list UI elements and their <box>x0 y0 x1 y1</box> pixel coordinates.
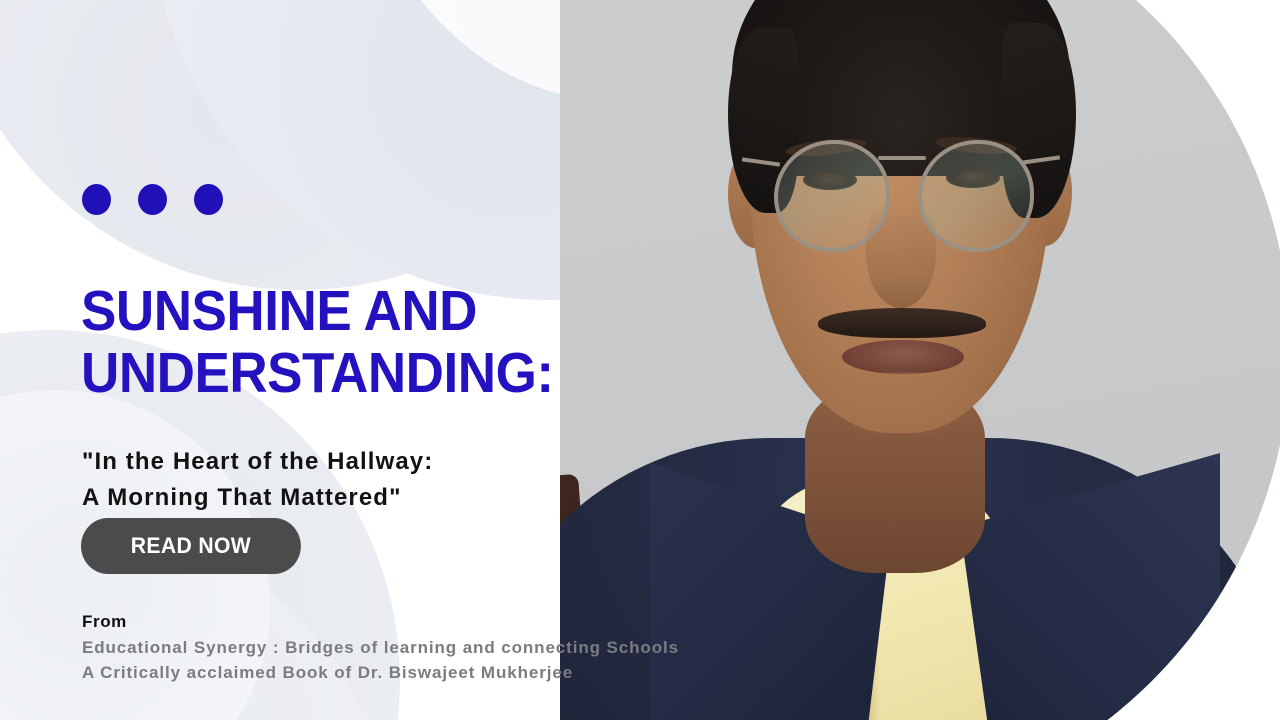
content-column: SUNSHINE AND UNDERSTANDING: "In the Hear… <box>0 0 720 720</box>
promo-banner: SUNSHINE AND UNDERSTANDING: "In the Hear… <box>0 0 1280 720</box>
read-now-button[interactable]: READ NOW <box>81 518 301 574</box>
attribution-from-label: From <box>82 610 902 635</box>
page-title: SUNSHINE AND UNDERSTANDING: <box>81 281 639 404</box>
eyeglasses-bridge <box>878 156 926 160</box>
dot-icon <box>138 184 167 215</box>
attribution-book-title: Educational Synergy : Bridges of learnin… <box>82 635 902 661</box>
attribution: From Educational Synergy : Bridges of le… <box>82 610 902 686</box>
eyeglasses-lens-left <box>774 140 890 252</box>
dot-icon <box>82 184 111 215</box>
subtitle: "In the Heart of the Hallway: A Morning … <box>82 444 642 517</box>
mouth <box>842 340 964 374</box>
dot-icon <box>194 184 223 215</box>
eyeglasses-lens-right <box>918 140 1034 252</box>
decorative-dots <box>82 184 223 215</box>
mustache <box>818 308 986 338</box>
chin <box>820 372 986 438</box>
attribution-author: A Critically acclaimed Book of Dr. Biswa… <box>82 660 902 686</box>
